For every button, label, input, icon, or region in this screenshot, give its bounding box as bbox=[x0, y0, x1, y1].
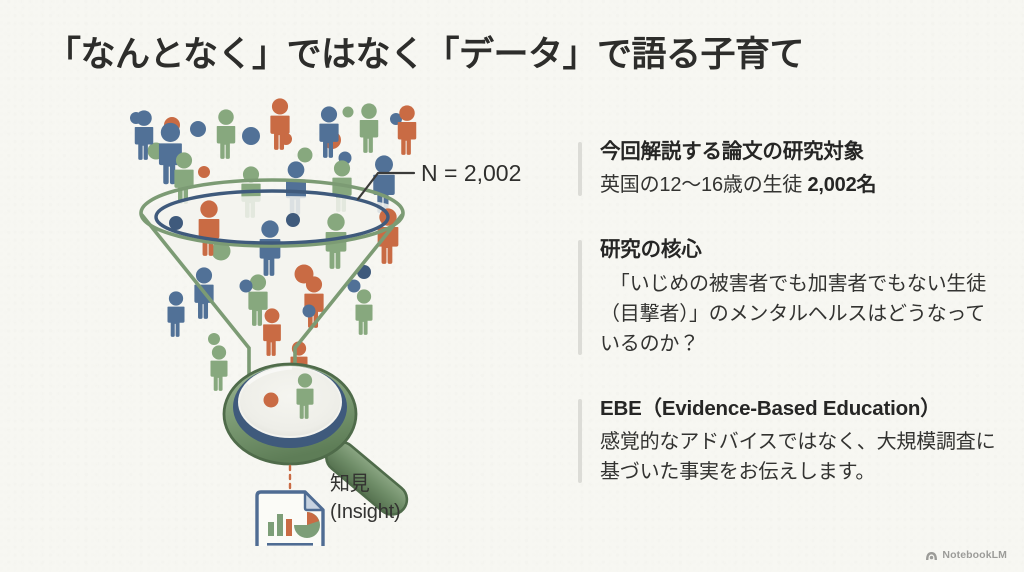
block-body: 感覚的なアドバイスではなく、大規模調査に基づいた事実をお伝えします。 bbox=[600, 427, 998, 487]
dot-icon bbox=[169, 216, 183, 230]
dot-icon bbox=[190, 121, 206, 137]
page-title: 「なんとなく」ではなく「データ」で語る子育て bbox=[46, 34, 804, 76]
block-body: 英国の12〜16歳の生徒 2,002名 bbox=[600, 170, 998, 200]
people-figure-icon bbox=[174, 152, 193, 203]
people-figure-icon bbox=[398, 105, 417, 155]
slide-canvas: 「なんとなく」ではなく「データ」で語る子育て bbox=[0, 0, 1024, 572]
people-figure-icon bbox=[360, 103, 379, 153]
people-figure-icon bbox=[319, 106, 338, 157]
insight-label-line2: (Insight) bbox=[330, 499, 400, 527]
watermark-label: NotebookLM bbox=[942, 549, 1007, 561]
dot-icon bbox=[303, 305, 316, 318]
dot-icon bbox=[298, 148, 313, 163]
notebooklm-logo-icon bbox=[925, 550, 938, 561]
dot-icon bbox=[264, 393, 279, 408]
block-body: 「いじめの被害者でも加害者でもない生徒（目撃者）」のメンタルヘルスはどうなってい… bbox=[600, 269, 998, 359]
people-figure-icon bbox=[217, 109, 236, 159]
block-rule bbox=[578, 240, 582, 354]
block-rule bbox=[578, 399, 582, 483]
dot-icon bbox=[286, 213, 300, 227]
people-figure-icon bbox=[355, 289, 372, 335]
content-block-research-core: 研究の核心 「いじめの被害者でも加害者でもない生徒（目撃者）」のメンタルヘルスは… bbox=[578, 236, 998, 358]
content-block-ebe: EBE（Evidence-Based Education） 感覚的なアドバイスで… bbox=[578, 395, 998, 487]
people-figure-icon bbox=[167, 291, 184, 337]
insight-document-icon bbox=[257, 492, 323, 546]
dot-icon bbox=[343, 107, 354, 118]
block-rule bbox=[578, 142, 582, 196]
dot-icon bbox=[242, 127, 260, 145]
notebooklm-watermark: NotebookLM bbox=[925, 549, 1007, 561]
block-body-text: 英国の12〜16歳の生徒 bbox=[600, 174, 807, 196]
dot-icon bbox=[240, 280, 253, 293]
block-heading: EBE（Evidence-Based Education） bbox=[600, 395, 998, 423]
insight-label: 知見 (Insight) bbox=[330, 471, 400, 526]
dot-icon bbox=[208, 333, 220, 345]
block-body-strong: 2,002名 bbox=[807, 174, 876, 196]
callout-label: N = 2,002 bbox=[421, 160, 521, 186]
content-blocks: 今回解説する論文の研究対象 英国の12〜16歳の生徒 2,002名 研究の核心 … bbox=[578, 138, 998, 523]
content-block-research-subject: 今回解説する論文の研究対象 英国の12〜16歳の生徒 2,002名 bbox=[578, 138, 998, 200]
people-figure-icon bbox=[210, 345, 227, 391]
insight-label-line1: 知見 bbox=[330, 471, 400, 499]
dot-icon bbox=[198, 166, 210, 178]
block-heading: 今回解説する論文の研究対象 bbox=[600, 138, 998, 166]
block-heading: 研究の核心 bbox=[600, 236, 998, 264]
